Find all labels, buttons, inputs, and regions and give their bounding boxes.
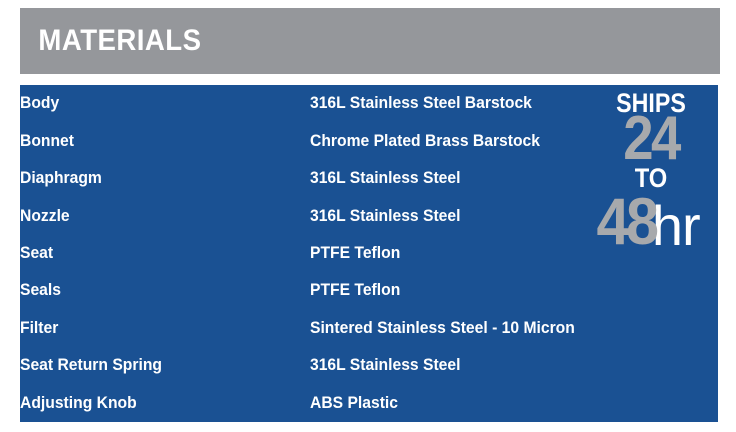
materials-spec-sheet: MATERIALS Body 316L Stainless Steel Bars…: [0, 0, 736, 432]
component-label: Nozzle: [20, 208, 70, 225]
material-value: 316L Stainless Steel: [310, 357, 460, 374]
ships-badge-hours-from: 24: [597, 108, 704, 170]
table-cell-component: Seals: [20, 272, 310, 309]
table-cell-component: Filter: [20, 309, 310, 346]
material-value: 316L Stainless Steel: [310, 208, 460, 225]
ships-badge-unit: hr: [652, 198, 700, 254]
component-label: Bonnet: [20, 133, 74, 150]
table-cell-component: Body: [20, 85, 310, 122]
table-cell-component: Nozzle: [20, 197, 310, 234]
component-label: Seals: [20, 282, 61, 299]
page-title: MATERIALS: [20, 26, 201, 56]
table-cell-component: Seat: [20, 235, 310, 272]
material-value: PTFE Teflon: [310, 282, 400, 299]
ships-24-to-48hr-badge: SHIPS 24 TO 48hr: [590, 90, 712, 255]
table-cell-component: Bonnet: [20, 122, 310, 159]
component-label: Adjusting Knob: [20, 395, 137, 412]
table-row: Adjusting Knob ABS Plastic: [20, 384, 718, 421]
material-value: 316L Stainless Steel: [310, 170, 460, 187]
table-row: Seat Return Spring 316L Stainless Steel: [20, 347, 718, 384]
component-label: Seat Return Spring: [20, 357, 162, 374]
table-row: Seals PTFE Teflon: [20, 272, 718, 309]
ships-badge-hours-to-row: 48hr: [578, 188, 712, 254]
table-cell-material: Sintered Stainless Steel - 10 Micron: [310, 309, 718, 346]
component-label: Diaphragm: [20, 170, 102, 187]
table-cell-material: 316L Stainless Steel: [310, 347, 718, 384]
material-value: 316L Stainless Steel Barstock: [310, 95, 532, 112]
materials-header-band: MATERIALS: [20, 8, 720, 74]
table-row: Filter Sintered Stainless Steel - 10 Mic…: [20, 309, 718, 346]
table-cell-material: ABS Plastic: [310, 384, 718, 421]
component-label: Filter: [20, 320, 58, 337]
material-value: PTFE Teflon: [310, 245, 400, 262]
component-label: Body: [20, 95, 59, 112]
table-cell-component: Adjusting Knob: [20, 384, 310, 421]
table-cell-material: PTFE Teflon: [310, 272, 718, 309]
table-cell-component: Seat Return Spring: [20, 347, 310, 384]
material-value: ABS Plastic: [310, 395, 398, 412]
materials-panel: Body 316L Stainless Steel Barstock Bonne…: [20, 85, 718, 422]
ships-badge-hours-to: 48: [597, 188, 656, 254]
material-value: Sintered Stainless Steel - 10 Micron: [310, 320, 575, 337]
material-value: Chrome Plated Brass Barstock: [310, 133, 540, 150]
table-cell-component: Diaphragm: [20, 160, 310, 197]
component-label: Seat: [20, 245, 53, 262]
